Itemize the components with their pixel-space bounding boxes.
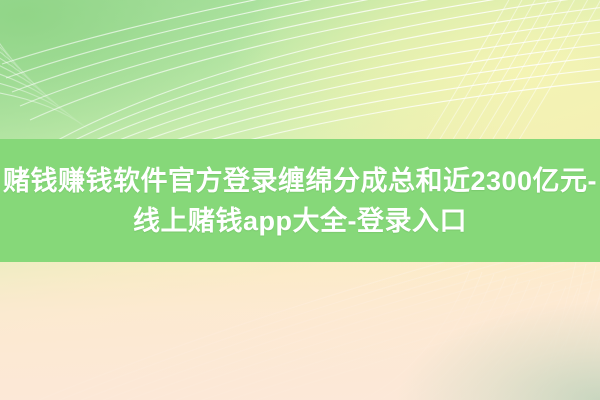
title-line-2: 线上赌钱app大全-登录入口 — [0, 201, 600, 241]
banner-image: 赌钱赚钱软件官方登录缠绵分成总和近2300亿元- 线上赌钱app大全-登录入口 — [0, 0, 600, 400]
title-band: 赌钱赚钱软件官方登录缠绵分成总和近2300亿元- 线上赌钱app大全-登录入口 — [0, 139, 600, 262]
title-band-inner: 赌钱赚钱软件官方登录缠绵分成总和近2300亿元- 线上赌钱app大全-登录入口 — [0, 161, 600, 241]
title-line-1: 赌钱赚钱软件官方登录缠绵分成总和近2300亿元- — [0, 161, 600, 201]
background-teal-tint — [324, 280, 600, 400]
